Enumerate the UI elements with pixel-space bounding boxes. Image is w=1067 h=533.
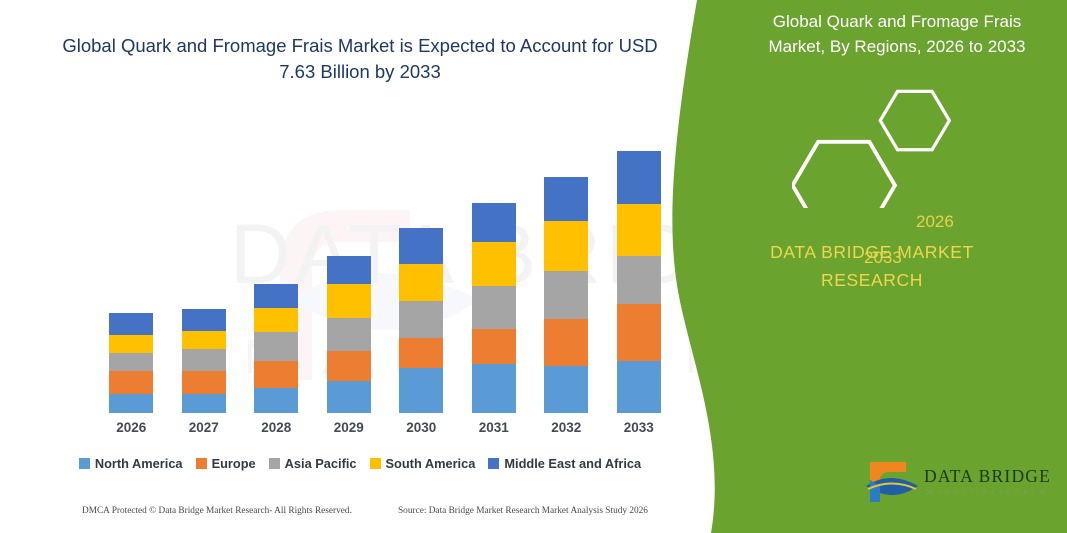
hex-badge-2026: 2026 [916,212,954,232]
bar-segment-middle-east-and-africa[interactable] [544,177,588,221]
legend-item-middle-east-and-africa[interactable]: Middle East and Africa [488,456,641,471]
bar-segment-middle-east-and-africa[interactable] [472,203,516,242]
bar-segment-north-america[interactable] [617,361,661,413]
chart-pane: Global Quark and Fromage Frais Market is… [0,0,720,533]
brand-name: DATA BRIDGE MARKET RESEARCH [722,238,1022,294]
legend-label: Middle East and Africa [504,456,641,471]
x-tick-2033: 2033 [617,420,661,435]
bar-segment-north-america[interactable] [254,388,298,413]
bar-segment-asia-pacific[interactable] [254,332,298,361]
bar-segment-middle-east-and-africa[interactable] [617,151,661,204]
bar-segment-north-america[interactable] [182,394,226,413]
footer-copyright: DMCA Protected © Data Bridge Market Rese… [82,506,352,516]
bar-segment-asia-pacific[interactable] [182,349,226,371]
bar-column-2027[interactable] [182,309,226,413]
legend-item-europe[interactable]: Europe [196,456,256,471]
bar-segment-north-america[interactable] [544,366,588,413]
bar-segment-europe[interactable] [472,329,516,364]
hexagon-outline-icon [792,88,982,208]
stacked-bar-chart [95,110,675,413]
bar-column-2032[interactable] [544,177,588,413]
logo-tagline: MARKET RESEARCH [926,487,1049,496]
data-bridge-logo: DATA BRIDGE MARKET RESEARCH [862,458,1052,510]
bar-segment-south-america[interactable] [472,242,516,286]
brand-line-1: DATA BRIDGE MARKET [722,238,1022,266]
bar-segment-south-america[interactable] [544,221,588,271]
bar-segment-middle-east-and-africa[interactable] [399,228,443,264]
legend-item-south-america[interactable]: South America [370,456,476,471]
hexagon-badges: 2026 2033 [792,88,982,208]
x-tick-2028: 2028 [254,420,298,435]
footer-source: Source: Data Bridge Market Research Mark… [398,506,648,516]
x-tick-2026: 2026 [109,420,153,435]
x-tick-2030: 2030 [399,420,443,435]
bar-segment-europe[interactable] [182,371,226,394]
bar-column-2026[interactable] [109,313,153,413]
bar-segment-south-america[interactable] [327,284,371,318]
brand-line-2: RESEARCH [722,266,1022,294]
data-bridge-mark-icon [862,458,920,506]
bar-column-2029[interactable] [327,256,371,413]
legend-swatch-icon [269,458,280,469]
legend-label: North America [95,456,183,471]
bar-segment-middle-east-and-africa[interactable] [254,284,298,308]
legend-item-asia-pacific[interactable]: Asia Pacific [269,456,357,471]
bar-segment-asia-pacific[interactable] [109,353,153,371]
x-tick-2029: 2029 [327,420,371,435]
bar-segment-middle-east-and-africa[interactable] [182,309,226,331]
bar-segment-north-america[interactable] [399,368,443,413]
x-tick-2032: 2032 [544,420,588,435]
legend-swatch-icon [370,458,381,469]
bar-segment-europe[interactable] [254,361,298,388]
legend-swatch-icon [79,458,90,469]
bar-segment-south-america[interactable] [254,308,298,332]
legend-label: Europe [212,456,256,471]
green-side-panel: Global Quark and Fromage Frais Market, B… [667,0,1067,533]
bar-segment-europe[interactable] [544,319,588,366]
chart-legend: North AmericaEuropeAsia PacificSouth Ame… [0,456,720,471]
legend-swatch-icon [196,458,207,469]
chart-title: Global Quark and Fromage Frais Market is… [55,33,665,86]
bar-column-2033[interactable] [617,151,661,413]
bar-segment-south-america[interactable] [182,331,226,349]
legend-swatch-icon [488,458,499,469]
chart-footer: DMCA Protected © Data Bridge Market Rese… [0,506,720,526]
x-tick-2027: 2027 [182,420,226,435]
legend-label: Asia Pacific [285,456,357,471]
infographic-root: DATA BRIDGE M A R K E T R E S E A R C H … [0,0,1067,533]
bar-segment-europe[interactable] [617,304,661,361]
bar-segment-middle-east-and-africa[interactable] [327,256,371,284]
legend-item-north-america[interactable]: North America [79,456,183,471]
bar-segment-asia-pacific[interactable] [617,256,661,304]
bar-segment-south-america[interactable] [109,335,153,353]
bar-segment-south-america[interactable] [399,264,443,301]
bar-segment-asia-pacific[interactable] [399,301,443,338]
logo-wordmark: DATA BRIDGE [924,466,1051,487]
bar-segment-europe[interactable] [399,338,443,368]
bar-segment-north-america[interactable] [327,381,371,413]
bar-segment-north-america[interactable] [109,394,153,413]
bar-segment-asia-pacific[interactable] [472,286,516,329]
x-tick-2031: 2031 [472,420,516,435]
bar-segment-europe[interactable] [109,371,153,394]
bar-column-2030[interactable] [399,228,443,413]
panel-title: Global Quark and Fromage Frais Market, B… [747,10,1047,59]
x-axis-labels: 20262027202820292030203120322033 [95,420,675,442]
bar-segment-asia-pacific[interactable] [327,318,371,351]
bar-segment-europe[interactable] [327,351,371,381]
bar-column-2028[interactable] [254,284,298,413]
bar-column-2031[interactable] [472,203,516,413]
green-panel-content: Global Quark and Fromage Frais Market, B… [667,0,1067,533]
legend-label: South America [386,456,476,471]
bar-segment-middle-east-and-africa[interactable] [109,313,153,335]
bar-segment-asia-pacific[interactable] [544,271,588,319]
bar-segment-south-america[interactable] [617,204,661,256]
bar-segment-north-america[interactable] [472,364,516,413]
